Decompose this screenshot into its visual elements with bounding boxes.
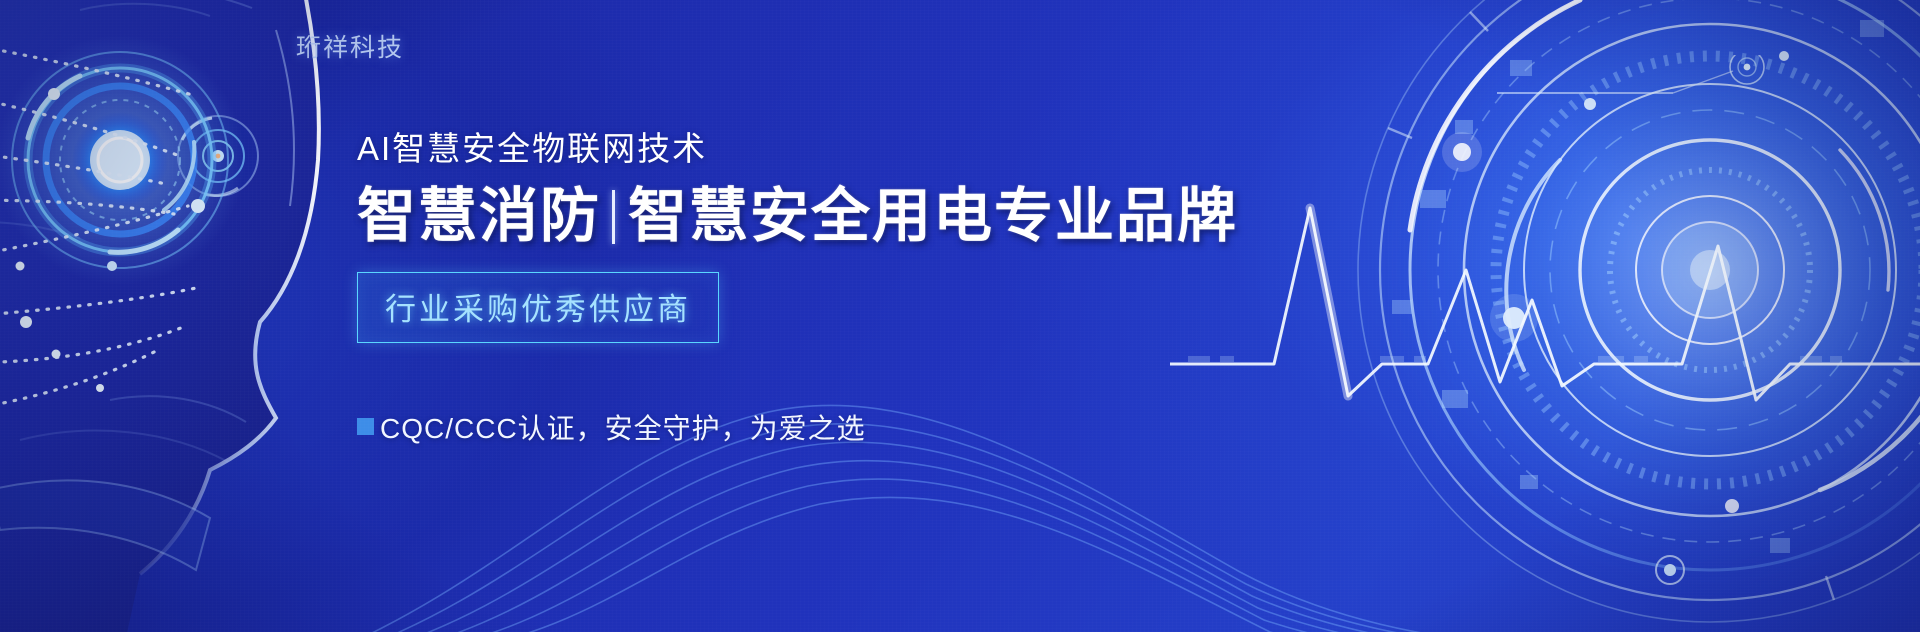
hero-banner: 珩祥科技 AI智慧安全物联网技术 智慧消防 智慧安全用电专业品牌 行业采购优秀供… [0,0,1920,632]
tagline-text: 行业采购优秀供应商 [385,292,691,327]
headline-right: 智慧安全用电专业品牌 [628,185,1238,249]
hero-footnote: CQC/CCC认证，安全守护，为爱之选 [357,407,1457,447]
hero-headline: 智慧消防 智慧安全用电专业品牌 [357,185,1457,249]
headline-divider [612,190,615,244]
headline-left: 智慧消防 [357,185,601,249]
hero-content: AI智慧安全物联网技术 智慧消防 智慧安全用电专业品牌 行业采购优秀供应商 CQ… [357,128,1457,447]
connector-line-graphic [1495,55,1825,115]
square-bullet-icon [357,418,374,435]
footnote-text: CQC/CCC认证，安全守护，为爱之选 [380,407,866,447]
brand-logo-text[interactable]: 珩祥科技 [296,28,404,64]
hero-subtitle: AI智慧安全物联网技术 [357,128,1457,169]
tagline-box[interactable]: 行业采购优秀供应商 [357,272,719,343]
